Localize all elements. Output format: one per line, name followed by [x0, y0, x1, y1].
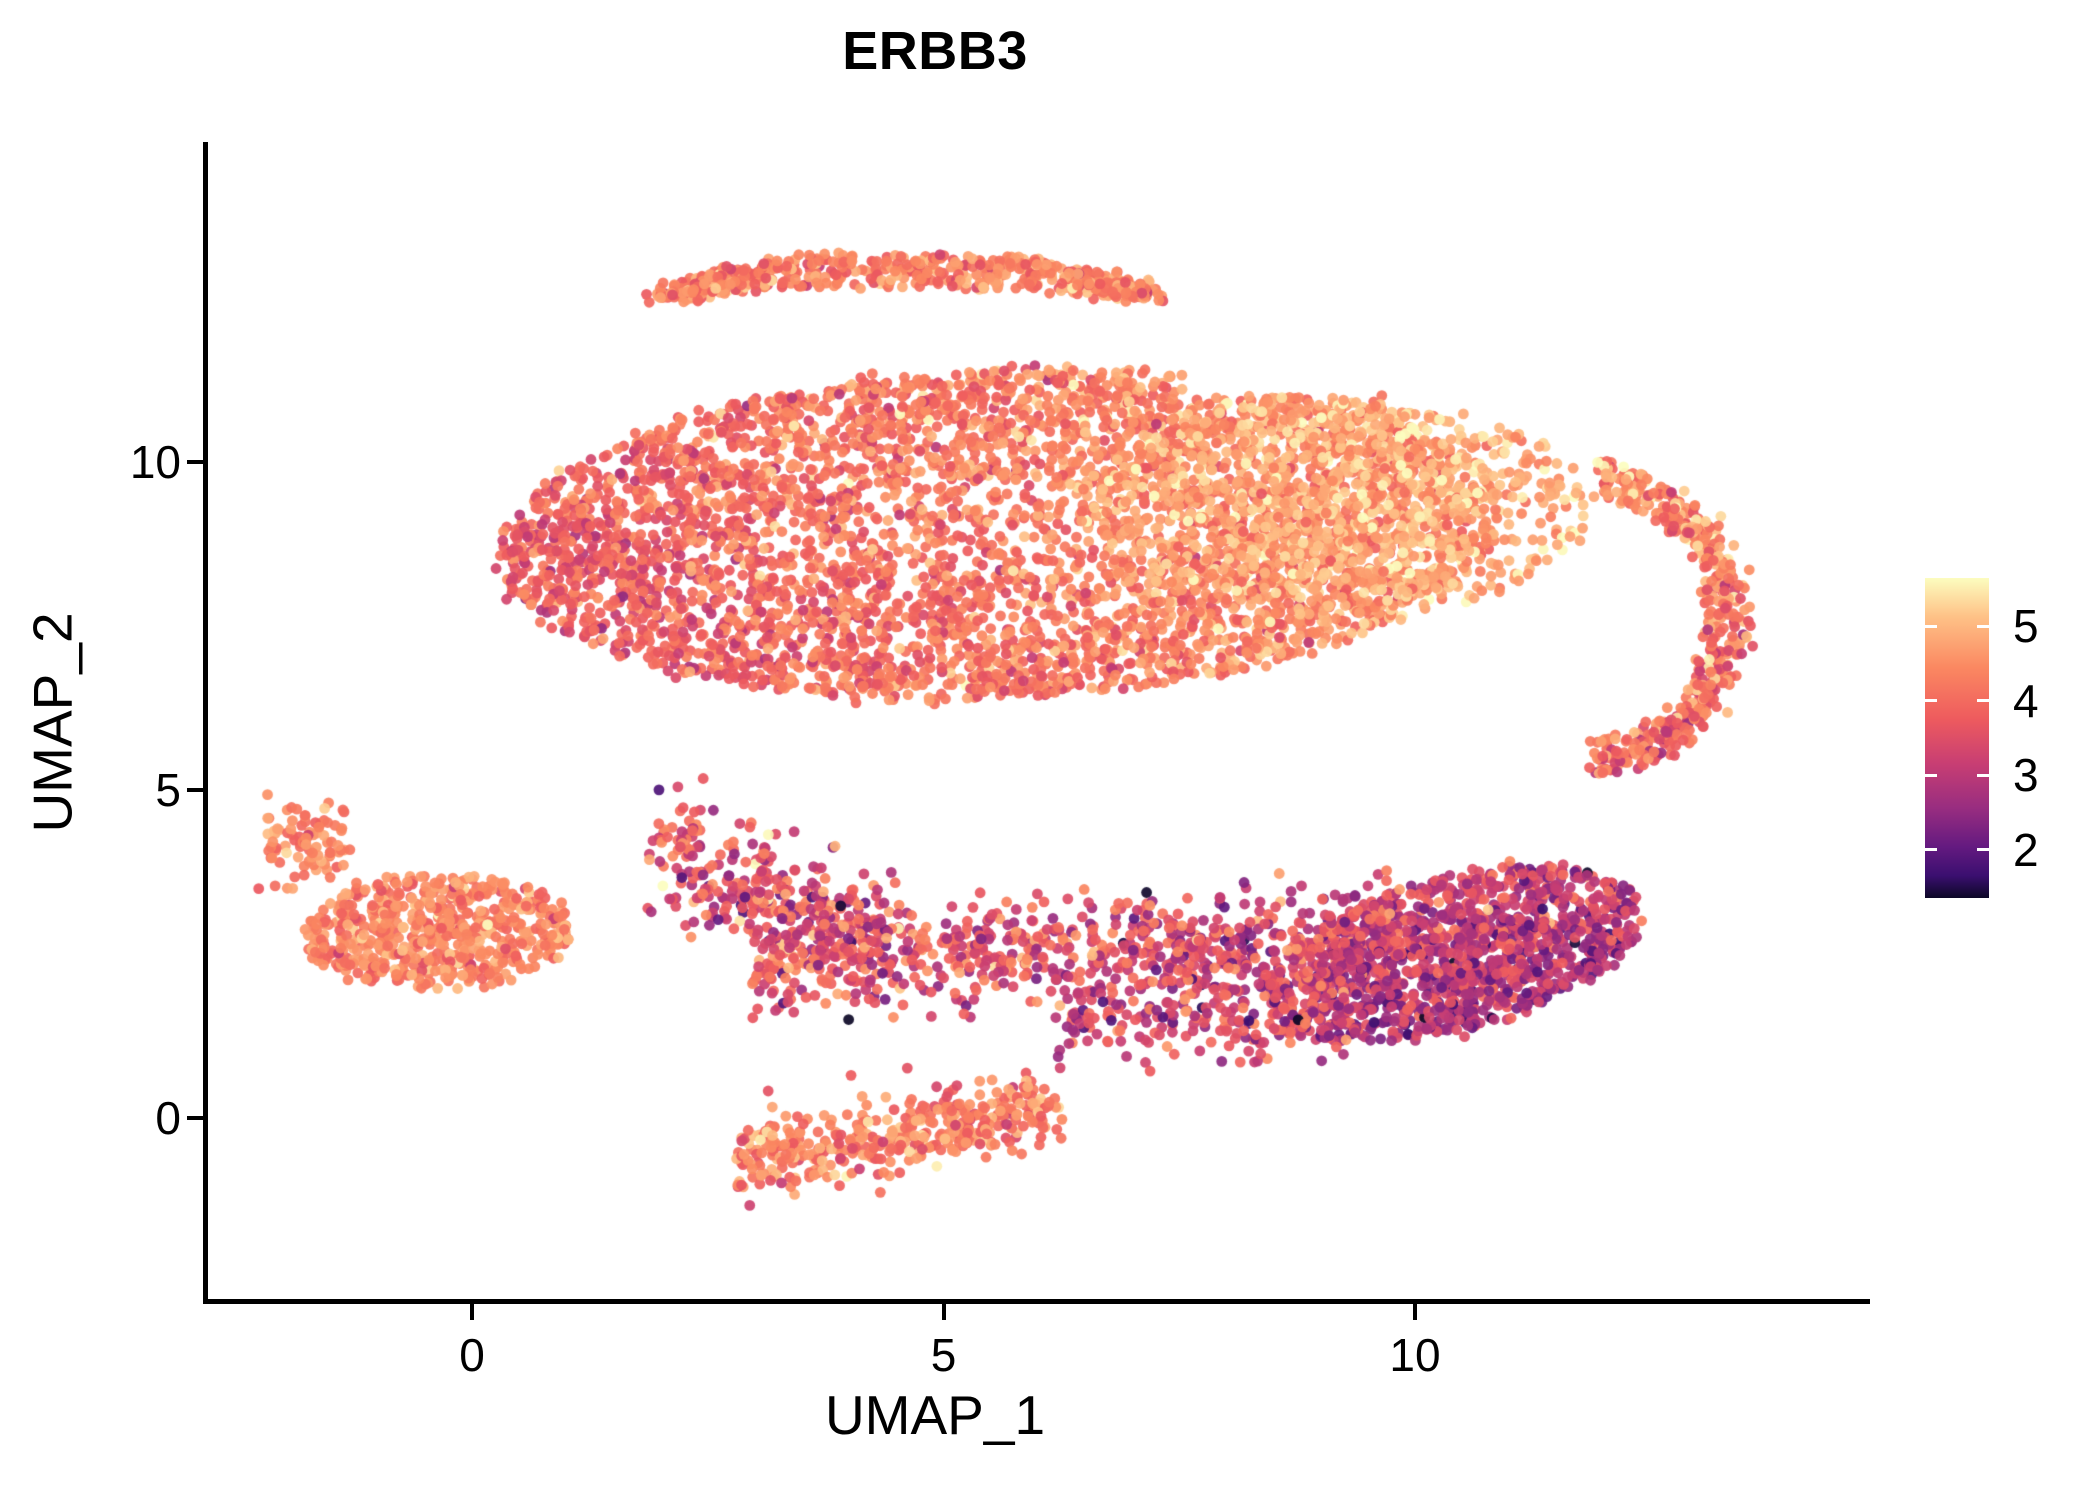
colorbar-tick-mark [1925, 848, 1937, 851]
y-tick-label: 10 [130, 439, 181, 485]
y-tick-mark [187, 788, 203, 792]
y-tick-mark [187, 1116, 203, 1120]
y-tick-label: 5 [155, 767, 181, 813]
colorbar-tick-mark [1977, 699, 1989, 702]
scatter-plot-canvas [208, 142, 1870, 1302]
colorbar-tick-label: 3 [2013, 752, 2039, 798]
colorbar-tick-mark [1925, 625, 1937, 628]
y-axis-title: UMAP_2 [26, 612, 81, 832]
x-tick-mark [1413, 1304, 1417, 1320]
x-axis-title: UMAP_1 [0, 1388, 1870, 1443]
plot-panel [208, 142, 1870, 1302]
x-tick-mark [470, 1304, 474, 1320]
colorbar-tick-label: 2 [2013, 827, 2039, 873]
y-tick-mark [187, 460, 203, 464]
colorbar-tick-mark [1977, 774, 1989, 777]
colorbar-tick-mark [1977, 625, 1989, 628]
y-axis-title-container: UMAP_2 [18, 142, 88, 1302]
x-tick-mark [942, 1304, 946, 1320]
page-title: ERBB3 [0, 24, 1870, 78]
colorbar-tick-mark [1925, 774, 1937, 777]
y-tick-label: 0 [155, 1095, 181, 1141]
x-tick-label: 0 [459, 1332, 485, 1378]
colorbar-tick-label: 5 [2013, 603, 2039, 649]
colorbar-tick-label: 4 [2013, 678, 2039, 724]
colorbar-tick-mark [1977, 848, 1989, 851]
y-axis-line [203, 142, 208, 1304]
x-tick-label: 5 [931, 1332, 957, 1378]
colorbar-legend: 5432 [1925, 578, 2075, 898]
x-tick-label: 10 [1389, 1332, 1440, 1378]
x-axis-line [203, 1299, 1870, 1304]
chart-page: ERBB3 0510 0510 UMAP_2 UMAP_1 5432 [0, 0, 2100, 1500]
colorbar-tick-mark [1925, 699, 1937, 702]
